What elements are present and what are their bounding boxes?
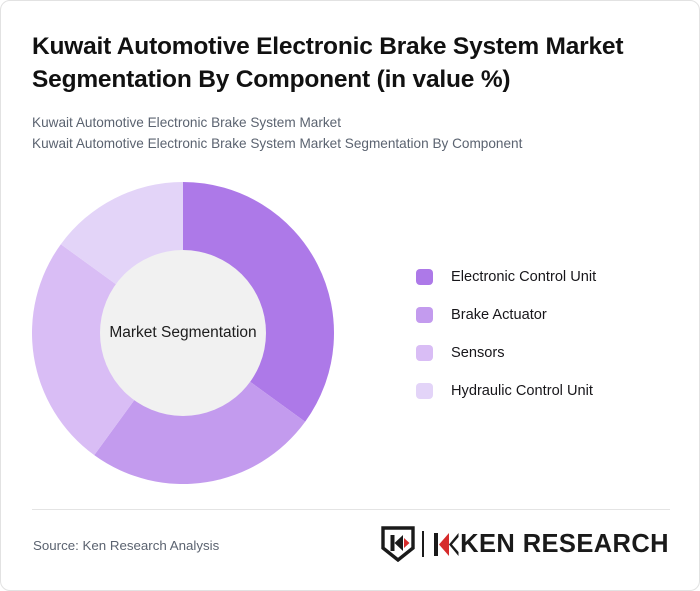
donut-hole [100, 250, 266, 416]
subtitle-line-2: Kuwait Automotive Electronic Brake Syste… [32, 134, 662, 155]
legend-swatch-icon [416, 307, 433, 323]
legend-item[interactable]: Brake Actuator [416, 296, 681, 334]
logo-word-text: KEN RESEARCH [460, 530, 669, 559]
legend-item-label: Sensors [451, 345, 505, 361]
legend-item[interactable]: Electronic Control Unit [416, 258, 681, 296]
footer-divider [32, 509, 670, 510]
legend-swatch-icon [416, 269, 433, 285]
legend-item[interactable]: Sensors [416, 334, 681, 372]
subtitle-block: Kuwait Automotive Electronic Brake Syste… [32, 113, 662, 154]
legend-item[interactable]: Hydraulic Control Unit [416, 372, 681, 410]
subtitle-line-1: Kuwait Automotive Electronic Brake Syste… [32, 113, 662, 134]
chart-card: Kuwait Automotive Electronic Brake Syste… [0, 0, 700, 591]
donut-chart: Market Segmentation [32, 182, 334, 484]
donut-svg [32, 182, 334, 484]
chart-legend: Electronic Control UnitBrake ActuatorSen… [416, 258, 681, 410]
legend-swatch-icon [416, 345, 433, 361]
logo-wordmark: KEN RESEARCH [433, 530, 669, 559]
page-title: Kuwait Automotive Electronic Brake Syste… [32, 31, 657, 96]
legend-swatch-icon [416, 383, 433, 399]
legend-item-label: Electronic Control Unit [451, 269, 596, 285]
legend-item-label: Hydraulic Control Unit [451, 383, 593, 399]
logo-shield-icon [381, 526, 415, 562]
chart-area: Market Segmentation Electronic Control U… [1, 166, 700, 496]
logo-k-icon [433, 531, 459, 558]
legend-item-label: Brake Actuator [451, 307, 547, 323]
logo-divider [422, 531, 424, 557]
ken-research-logo: KEN RESEARCH [381, 525, 669, 563]
source-note: Source: Ken Research Analysis [33, 538, 219, 553]
